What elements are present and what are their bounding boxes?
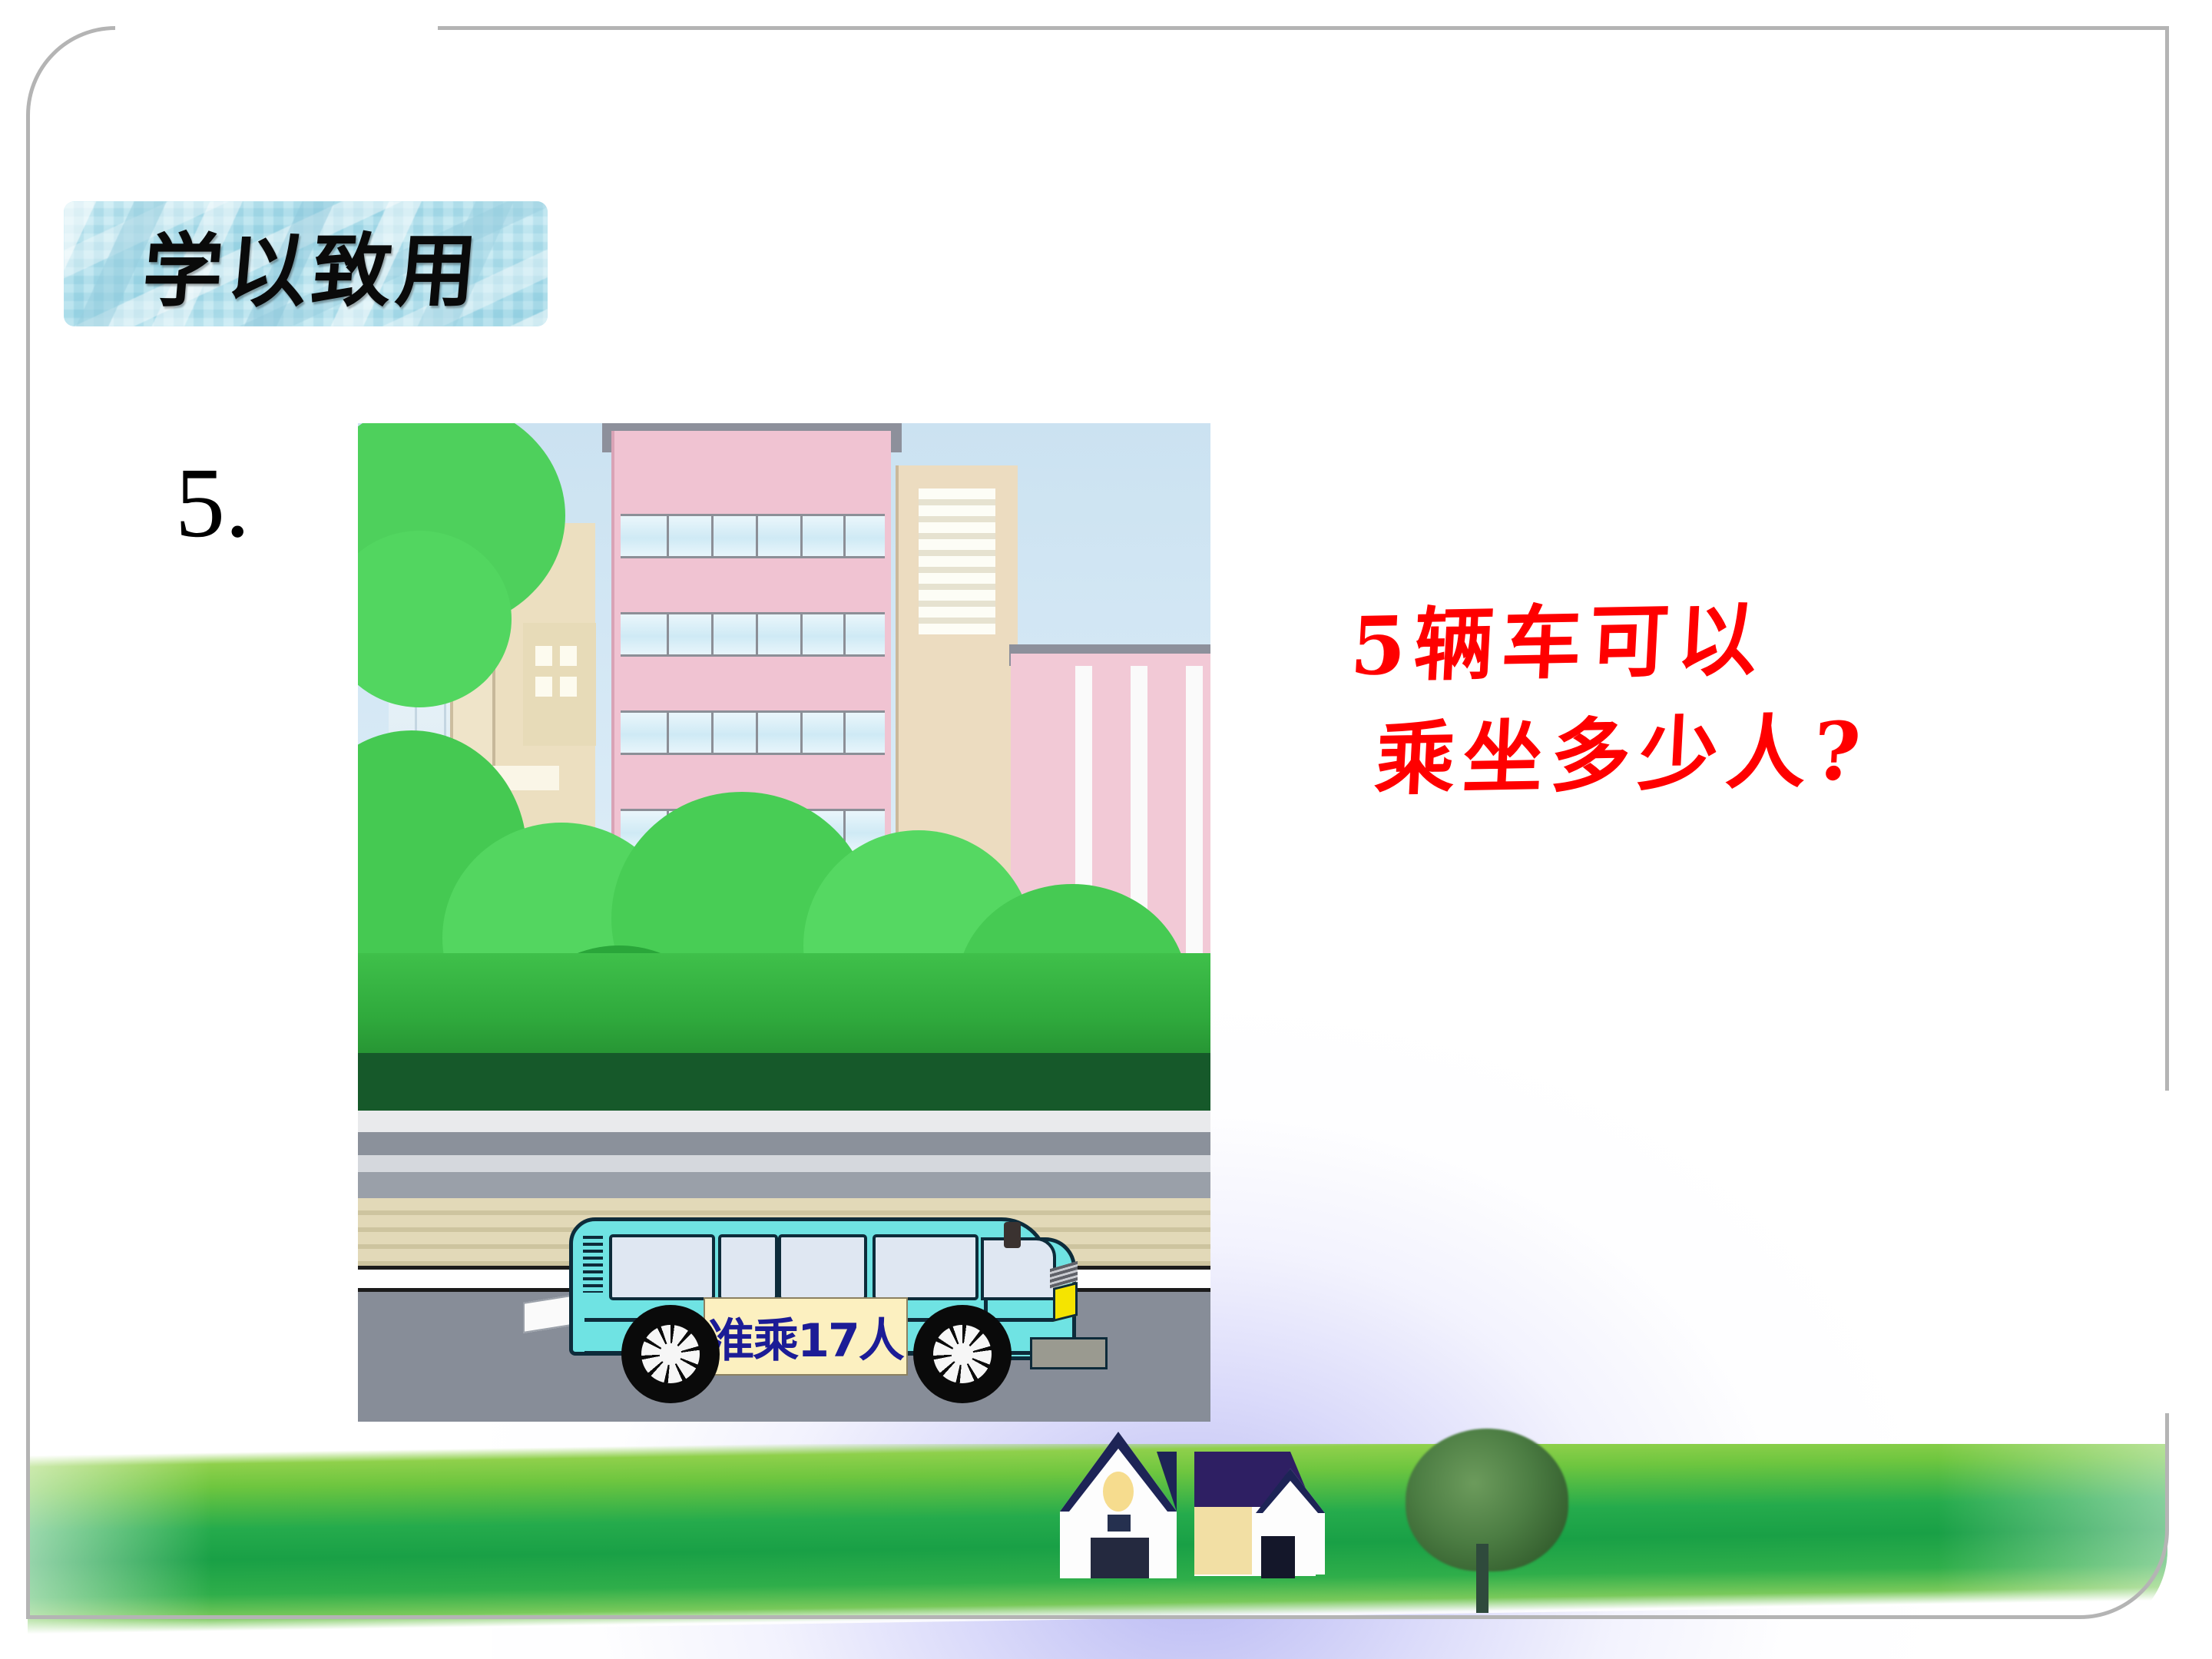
item-number: 5. — [175, 453, 250, 553]
bus-rear-wheel — [621, 1305, 720, 1403]
capacity-sign: 准乘17人 — [704, 1297, 908, 1376]
bus-front-wheel — [913, 1305, 1012, 1403]
tall-right-windows — [919, 488, 995, 634]
bus-vent — [583, 1236, 603, 1293]
scenery-group — [1060, 1421, 1644, 1636]
grass-fade-left — [28, 1444, 212, 1636]
slide-canvas: 学以致用 5. — [0, 0, 2212, 1659]
sidewalk-band-2 — [358, 1132, 1210, 1155]
question-text: 5辆车可以 乘坐多少人? — [1342, 578, 2045, 816]
heading-banner-title: 学以致用 — [64, 201, 548, 326]
street-scene-picture: 准乘17人 — [358, 423, 1210, 1422]
minibus: 准乘17人 — [523, 1191, 1107, 1406]
question-line-1: 5辆车可以 — [1348, 591, 1767, 693]
frame-gap-top — [115, 8, 438, 54]
question-line-2: 乘坐多少人? — [1342, 691, 2040, 816]
sidewalk-band-3 — [358, 1155, 1210, 1172]
bus-window-4 — [873, 1234, 979, 1300]
sidewalk-band-1 — [358, 1111, 1210, 1132]
tree-trunk — [1476, 1544, 1488, 1613]
grass-fade-right — [1937, 1444, 2167, 1636]
bus-side-mirror — [1004, 1222, 1021, 1248]
tree-icon — [1390, 1429, 1582, 1621]
dark-hedge-band — [358, 1053, 1210, 1114]
bus-window-1 — [609, 1234, 715, 1300]
cottage-house-icon — [1060, 1421, 1344, 1598]
bus-window-3 — [778, 1234, 867, 1300]
frame-gap-right — [2135, 1091, 2204, 1413]
bus-bumper — [1030, 1337, 1108, 1369]
beige-building-c — [523, 623, 596, 746]
bus-window-2 — [718, 1234, 778, 1300]
bus-headlight — [1053, 1282, 1078, 1322]
heading-banner: 学以致用 — [64, 201, 548, 326]
